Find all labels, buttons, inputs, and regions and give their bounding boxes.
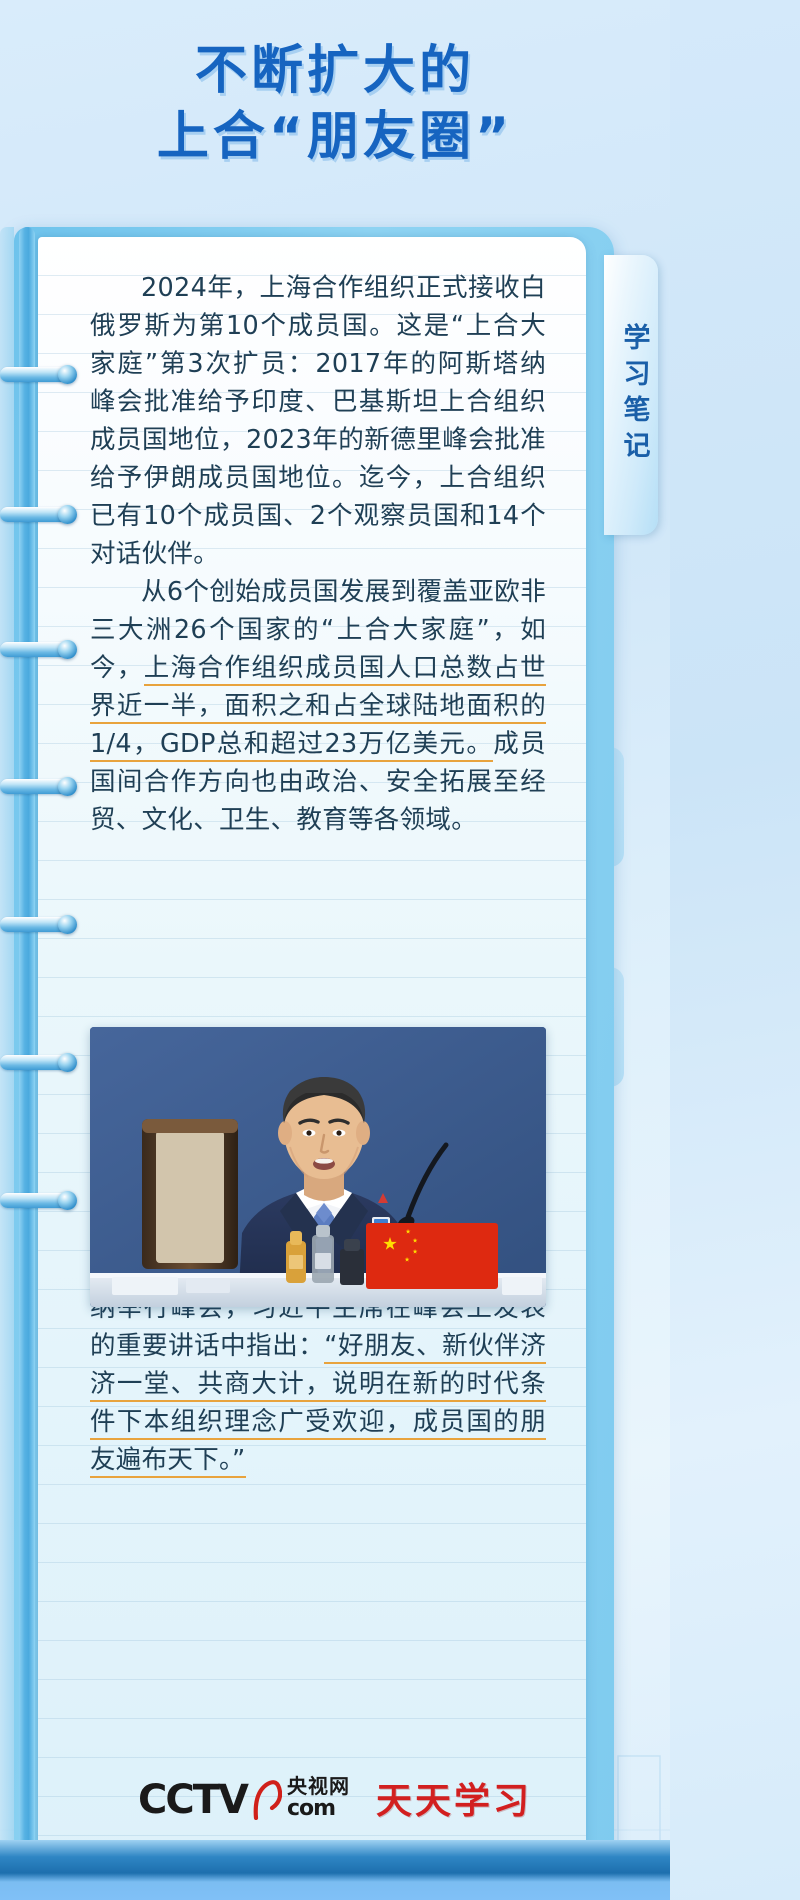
notebook-page: 2024年，上海合作组织正式接收白俄罗斯为第10个成员国。这是“上合大家庭”第3… (38, 237, 586, 1867)
binding-ring-3 (0, 642, 72, 657)
binding-ring-1 (0, 367, 72, 382)
binding-ring-4 (0, 779, 72, 794)
watermark-label: 央视网 (618, 1875, 660, 1894)
paragraph-1: 2024年，上海合作组织正式接收白俄罗斯为第10个成员国。这是“上合大家庭”第3… (90, 269, 546, 573)
right-background-fill (670, 0, 800, 1900)
binding-spine (19, 227, 35, 1877)
summit-photo (90, 1027, 546, 1307)
title-line-2: 上合“朋友圈” (0, 104, 670, 170)
binding-shadow (0, 227, 14, 1877)
binding-ring-7 (0, 1193, 72, 1208)
page-title: 不断扩大的 上合“朋友圈” (0, 38, 670, 170)
cctv-swoosh-icon (252, 1778, 282, 1820)
binding-ring-6 (0, 1055, 72, 1070)
tab-study-notes[interactable]: 学习笔记 (604, 255, 658, 535)
poster-canvas: 不断扩大的 上合“朋友圈” (0, 0, 670, 1900)
cctv-chinese-name: 央视网 (287, 1776, 350, 1796)
brand-tiantianxuexi: 天天学习 (376, 1772, 532, 1824)
cctv-wordmark: CCTV (138, 1780, 247, 1820)
paragraph-2: 从6个创始成员国发展到覆盖亚欧非三大洲26个国家的“上合大家庭”，如今，上海合作… (90, 573, 546, 839)
tab-study-notes-label: 学习笔记 (615, 323, 654, 467)
summit-photo-image (90, 1027, 546, 1307)
title-line-1: 不断扩大的 (0, 38, 670, 104)
cctv-right-block: 央视网 com (287, 1776, 350, 1820)
binding-ring-2 (0, 507, 72, 522)
cctv-domain-suffix: com (287, 1798, 350, 1820)
cctv-logo: CCTV 央视网 com (138, 1776, 350, 1820)
notebook: 学习笔记 2024年，上海合作组织正式接收白俄罗斯为第10个成员国。这是“上合大… (14, 227, 614, 1877)
paragraph-2-highlight: 上海合作组织成员国人口总数占世界近一半，面积之和占全球陆地面积的1/4，GDP总… (90, 653, 546, 762)
binding-ring-5 (0, 917, 72, 932)
footer-logos: CCTV 央视网 com 天天学习 (0, 1772, 670, 1824)
notebook-board: 学习笔记 2024年，上海合作组织正式接收白俄罗斯为第10个成员国。这是“上合大… (14, 227, 614, 1877)
